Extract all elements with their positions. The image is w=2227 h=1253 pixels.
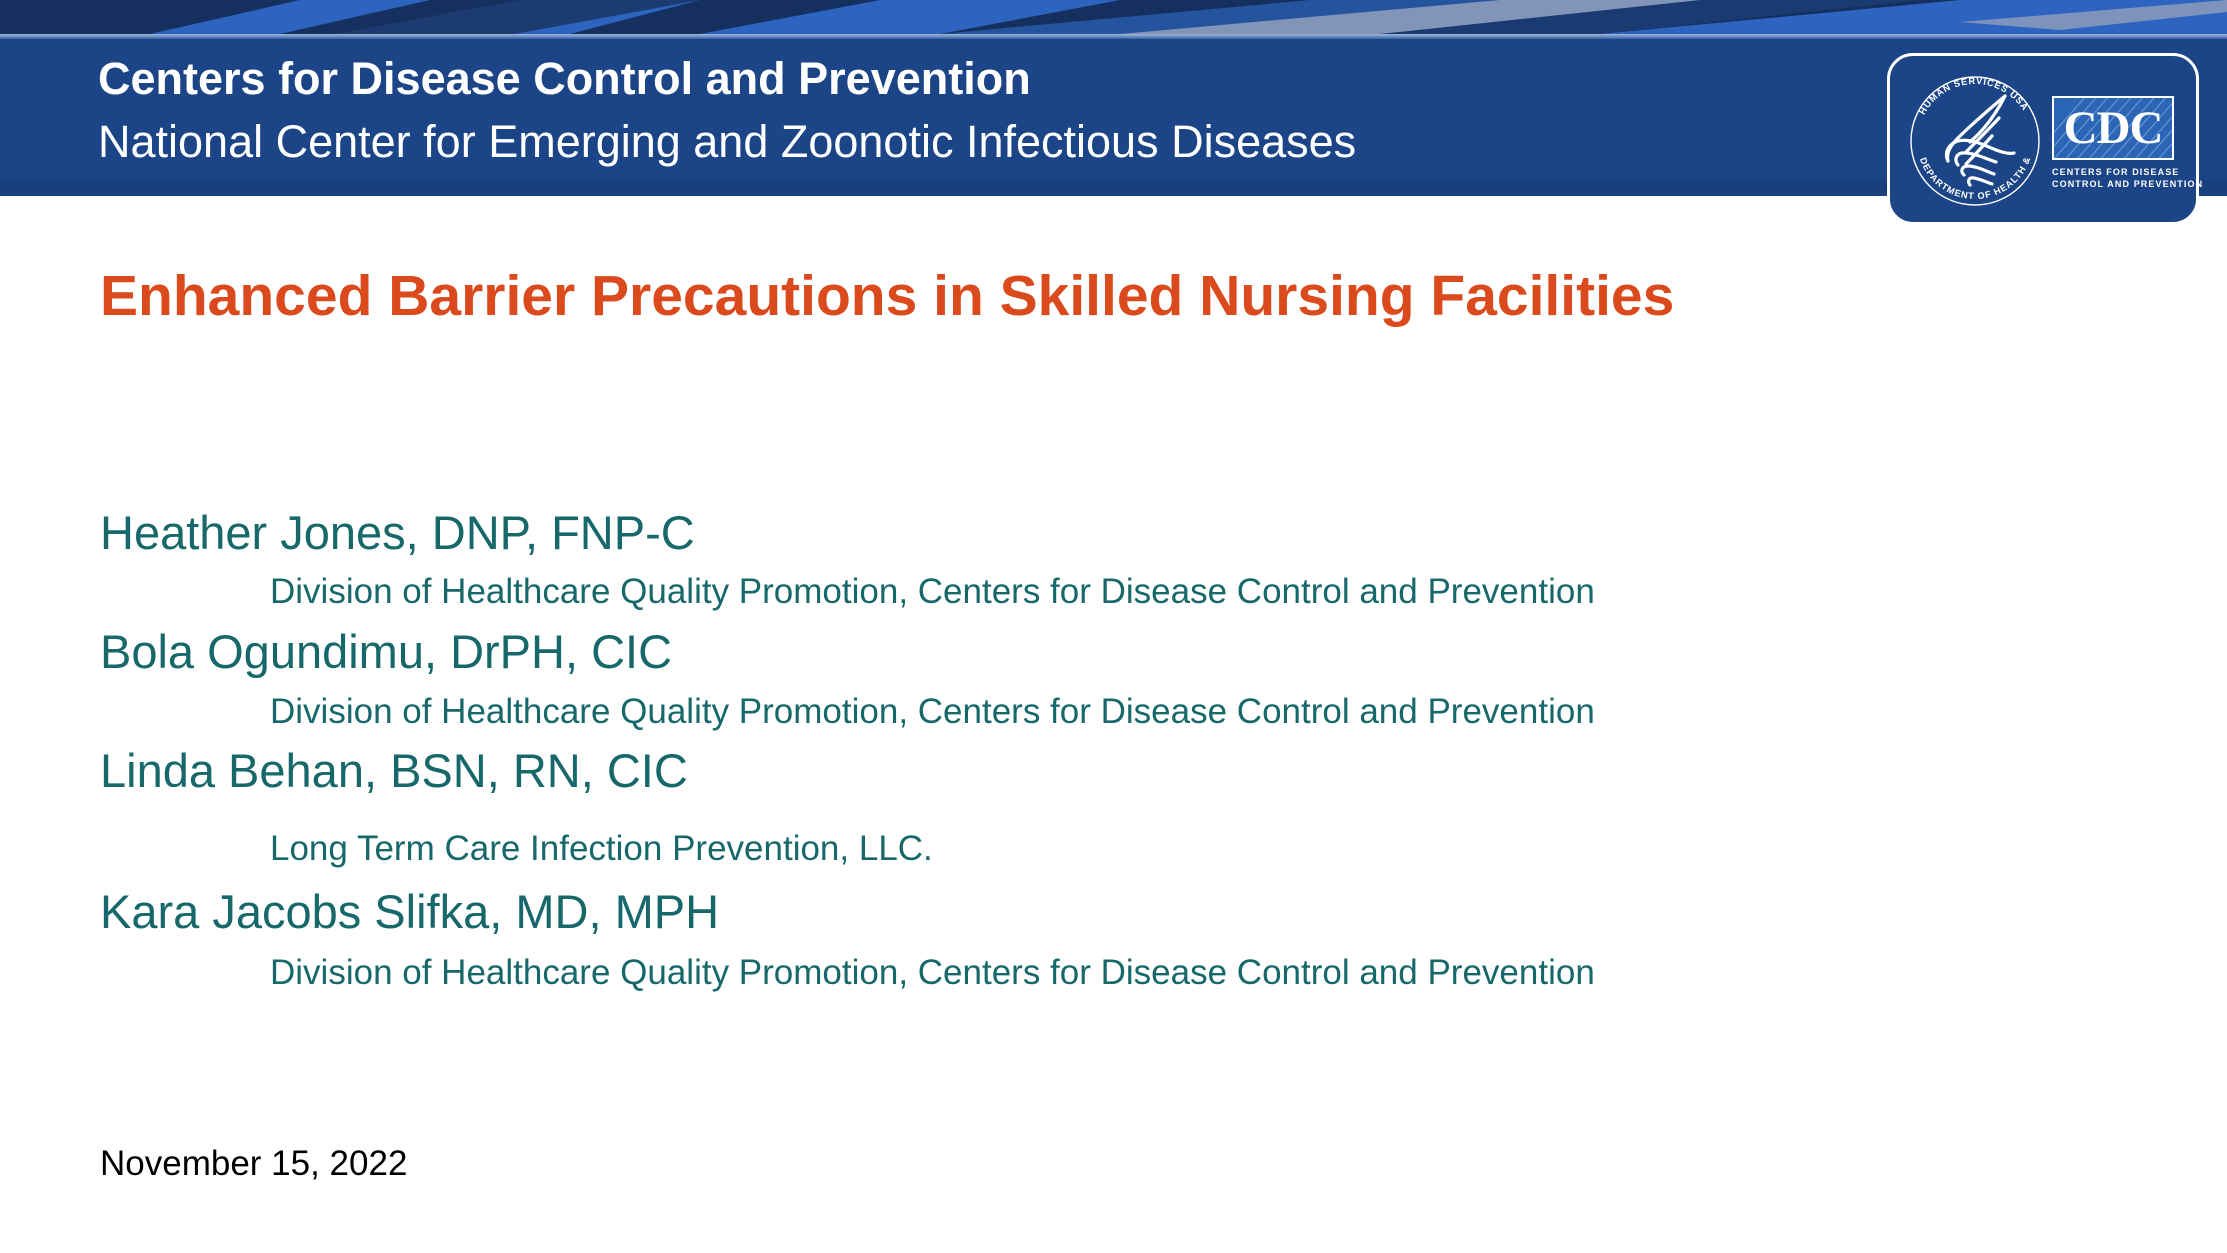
svg-text:HUMAN SERVICES USA: HUMAN SERVICES USA bbox=[1915, 76, 2030, 119]
author-affiliation: Division of Healthcare Quality Promotion… bbox=[100, 571, 2110, 613]
cdc-tagline-line-1: CENTERS FOR DISEASE bbox=[2052, 166, 2178, 178]
author-block: Bola Ogundimu, DrPH, CIC Division of Hea… bbox=[100, 624, 2110, 733]
author-list: Heather Jones, DNP, FNP-C Division of He… bbox=[100, 505, 2110, 994]
organization-name: Centers for Disease Control and Preventi… bbox=[98, 47, 1356, 110]
author-name: Kara Jacobs Slifka, MD, MPH bbox=[100, 884, 2110, 940]
decorative-stripe-band bbox=[0, 0, 2227, 34]
cdc-tagline: CENTERS FOR DISEASE CONTROL AND PREVENTI… bbox=[2052, 166, 2178, 190]
author-block: Kara Jacobs Slifka, MD, MPH Division of … bbox=[100, 884, 2110, 994]
hhs-seal-icon: HUMAN SERVICES USA DEPARTMENT OF HEALTH … bbox=[1904, 68, 2046, 214]
author-block: Heather Jones, DNP, FNP-C Division of He… bbox=[100, 505, 2110, 613]
author-name: Bola Ogundimu, DrPH, CIC bbox=[100, 624, 2110, 680]
author-affiliation: Long Term Care Infection Prevention, LLC… bbox=[100, 828, 2110, 870]
author-name: Linda Behan, BSN, RN, CIC bbox=[100, 743, 2110, 799]
author-affiliation: Division of Healthcare Quality Promotion… bbox=[100, 952, 2110, 994]
author-block: Linda Behan, BSN, RN, CIC Long Term Care… bbox=[100, 743, 2110, 870]
diagonal-stripes-graphic bbox=[0, 0, 2227, 34]
presentation-date: November 15, 2022 bbox=[100, 1143, 407, 1185]
author-name: Heather Jones, DNP, FNP-C bbox=[100, 505, 2110, 561]
cdc-header-banner: Centers for Disease Control and Preventi… bbox=[0, 39, 2227, 196]
cdc-tagline-line-2: CONTROL AND PREVENTION bbox=[2052, 178, 2178, 190]
cdc-logo-box: CDC bbox=[2052, 96, 2174, 160]
author-affiliation: Division of Healthcare Quality Promotion… bbox=[100, 691, 2110, 733]
banner-text-group: Centers for Disease Control and Preventi… bbox=[98, 47, 1356, 174]
cdc-wordmark: CDC bbox=[2054, 98, 2172, 158]
slide-title: Enhanced Barrier Precautions in Skilled … bbox=[100, 262, 2100, 330]
presentation-title-slide: Centers for Disease Control and Preventi… bbox=[0, 0, 2227, 1253]
cdc-logo-lockup: HUMAN SERVICES USA DEPARTMENT OF HEALTH … bbox=[1887, 53, 2199, 225]
center-name: National Center for Emerging and Zoonoti… bbox=[98, 110, 1356, 174]
